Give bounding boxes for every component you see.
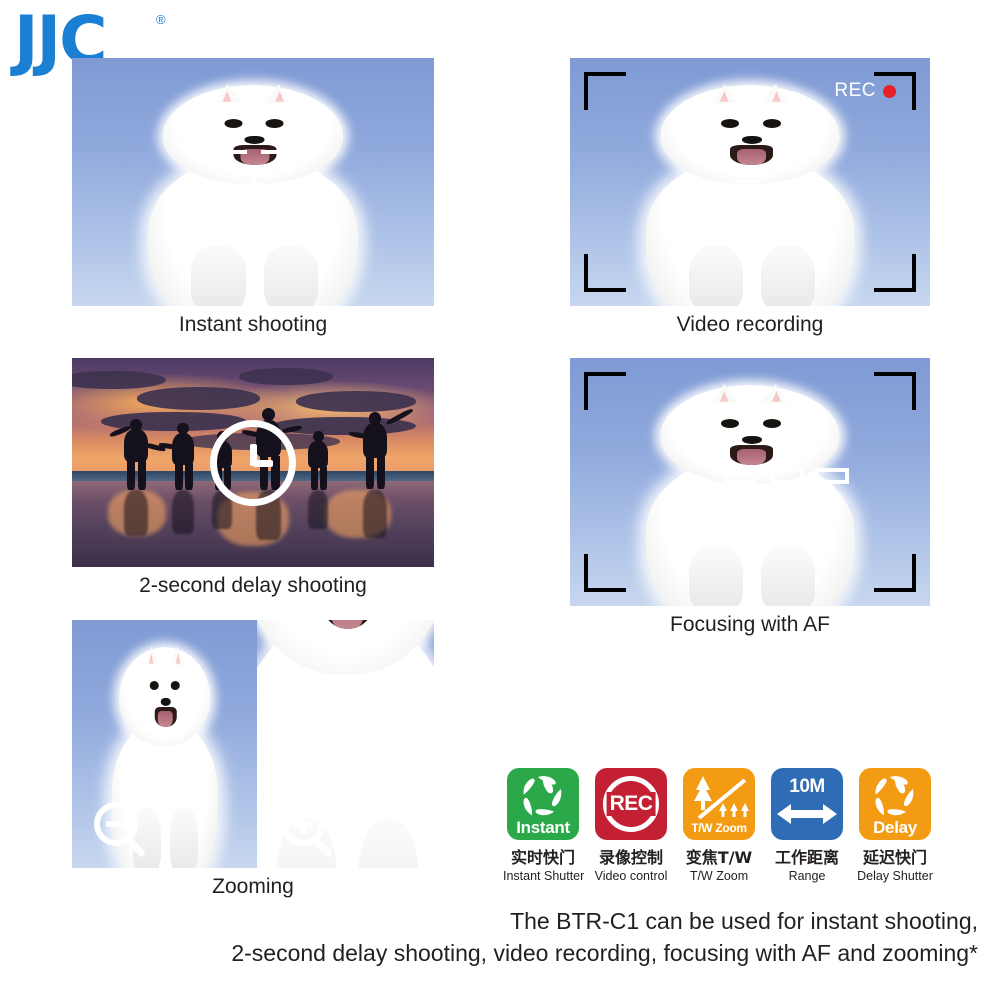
- feature-word: Instant: [507, 818, 579, 838]
- viewfinder-corner-br: [874, 554, 916, 592]
- photo-video-recording: REC: [570, 58, 930, 306]
- crosshair-icon: [738, 170, 760, 192]
- description-line-2: 2-second delay shooting, video recording…: [0, 938, 978, 970]
- focus-bracket-tr: [261, 150, 291, 176]
- photo-delay-shooting: [72, 358, 434, 567]
- registered-trademark-icon: ®: [156, 12, 166, 27]
- tree-zoom-glyph: [683, 770, 755, 828]
- photo-zooming: [72, 620, 434, 868]
- aperture-icon: Instant: [507, 768, 579, 840]
- focus-bracket-br: [261, 187, 291, 213]
- range-icon: 10M: [771, 768, 843, 840]
- feature-label-cn: 变焦T/W: [679, 844, 759, 868]
- caption-zooming: Zooming: [72, 875, 434, 899]
- feature-icon-row: Instant 实时快门 Instant Shutter REC 录像控制 Vi…: [503, 768, 935, 883]
- feature-word: Delay: [859, 818, 931, 838]
- rec-label-text: REC: [834, 80, 876, 102]
- viewfinder-corner-bl: [584, 254, 626, 292]
- feature-range: 10M 工作距离 Range: [767, 768, 847, 883]
- panel-video-recording: REC Video recording: [570, 58, 930, 337]
- feature-label-en: Video control: [591, 869, 671, 883]
- zoom-out-view: [72, 620, 257, 868]
- caption-instant-shooting: Instant shooting: [72, 313, 434, 337]
- tw-zoom-icon: T/W Zoom: [683, 768, 755, 840]
- viewfinder-corner-bl: [584, 554, 626, 592]
- panel-focusing-af: Focusing with AF: [570, 358, 930, 637]
- af-point: [770, 468, 804, 484]
- rec-dot-icon: [883, 85, 896, 98]
- aperture-blades-icon: [520, 773, 566, 819]
- rec-indicator: REC: [834, 80, 896, 102]
- feature-word: 10M: [771, 776, 843, 798]
- zoom-out-icon: [94, 802, 138, 846]
- feature-label-en: Range: [767, 869, 847, 883]
- aperture-blades-icon: [872, 773, 918, 819]
- af-point: [770, 496, 802, 513]
- photo-instant-shooting: [72, 58, 434, 306]
- double-arrow-icon: [775, 801, 839, 827]
- viewfinder-corner-tr: [874, 372, 916, 410]
- clock-icon: [210, 420, 296, 506]
- feature-label-en: T/W Zoom: [679, 869, 759, 883]
- photo-focusing-af: [570, 358, 930, 606]
- aperture-icon: Delay: [859, 768, 931, 840]
- feature-word: REC: [607, 792, 656, 816]
- feature-label-cn: 工作距离: [767, 844, 847, 868]
- feature-label-en: Instant Shutter: [503, 869, 583, 883]
- panel-delay-shooting: 2-second delay shooting: [72, 358, 434, 598]
- feature-label-cn: 延迟快门: [855, 844, 935, 868]
- feature-tw-zoom: T/W Zoom 变焦T/W T/W Zoom: [679, 768, 759, 883]
- viewfinder-corner-tl: [584, 72, 626, 110]
- description-line-1: The BTR-C1 can be used for instant shoot…: [0, 906, 978, 938]
- caption-video-recording: Video recording: [570, 313, 930, 337]
- feature-label-cn: 录像控制: [591, 844, 671, 868]
- viewfinder-corner-br: [874, 254, 916, 292]
- panel-instant-shooting: Instant shooting: [72, 58, 434, 337]
- rec-icon: REC: [595, 768, 667, 840]
- product-description: The BTR-C1 can be used for instant shoot…: [0, 906, 978, 969]
- caption-delay-shooting: 2-second delay shooting: [72, 574, 434, 598]
- panel-zooming: Zooming: [72, 620, 434, 899]
- af-point: [815, 468, 849, 484]
- af-point: [725, 468, 757, 484]
- feature-word: T/W Zoom: [683, 821, 755, 835]
- feature-video-control: REC 录像控制 Video control: [591, 768, 671, 883]
- feature-delay-shutter: Delay 延迟快门 Delay Shutter: [855, 768, 935, 883]
- zoom-in-view: [257, 620, 434, 868]
- caption-focusing-af: Focusing with AF: [570, 613, 930, 637]
- feature-instant-shutter: Instant 实时快门 Instant Shutter: [503, 768, 583, 883]
- zoom-in-icon: [281, 802, 325, 846]
- feature-label-en: Delay Shutter: [855, 869, 935, 883]
- feature-label-cn: 实时快门: [503, 844, 583, 868]
- viewfinder-corner-tl: [584, 372, 626, 410]
- crosshair-icon: [242, 173, 264, 195]
